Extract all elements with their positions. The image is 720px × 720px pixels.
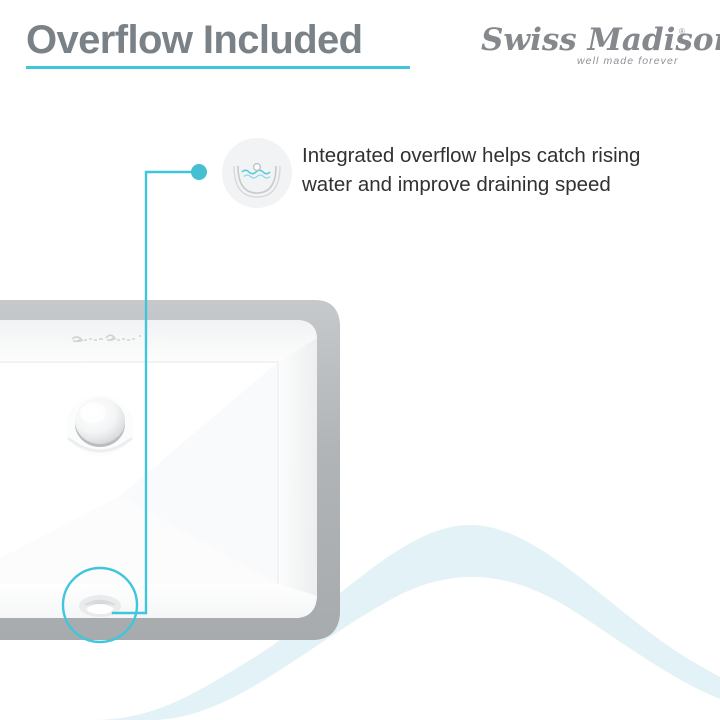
sink-wall-right	[278, 338, 317, 618]
sink-wall-top	[0, 320, 317, 362]
sink-drain	[66, 396, 134, 456]
callout-badge	[222, 138, 292, 208]
header: Overflow Included Swiss Madison ® well m…	[0, 0, 720, 95]
basin-overflow-icon	[222, 138, 292, 208]
page-title: Overflow Included	[26, 18, 363, 63]
callout-description: Integrated overflow helps catch rising w…	[302, 141, 692, 199]
registered-trademark-icon: ®	[679, 27, 685, 36]
feature-callout: Integrated overflow helps catch rising w…	[222, 138, 692, 214]
sink-product-photo	[0, 296, 355, 646]
brand-logo: Swiss Madison ® well made forever	[481, 22, 696, 72]
leader-endpoint-dot	[191, 164, 207, 180]
product-feature-image: Overflow Included Swiss Madison ® well m…	[0, 0, 720, 720]
brand-tagline: well made forever	[577, 55, 679, 67]
title-underline-rule	[26, 66, 410, 69]
sink-overflow-hole	[79, 595, 121, 617]
sink-wall-bottom	[0, 584, 317, 618]
